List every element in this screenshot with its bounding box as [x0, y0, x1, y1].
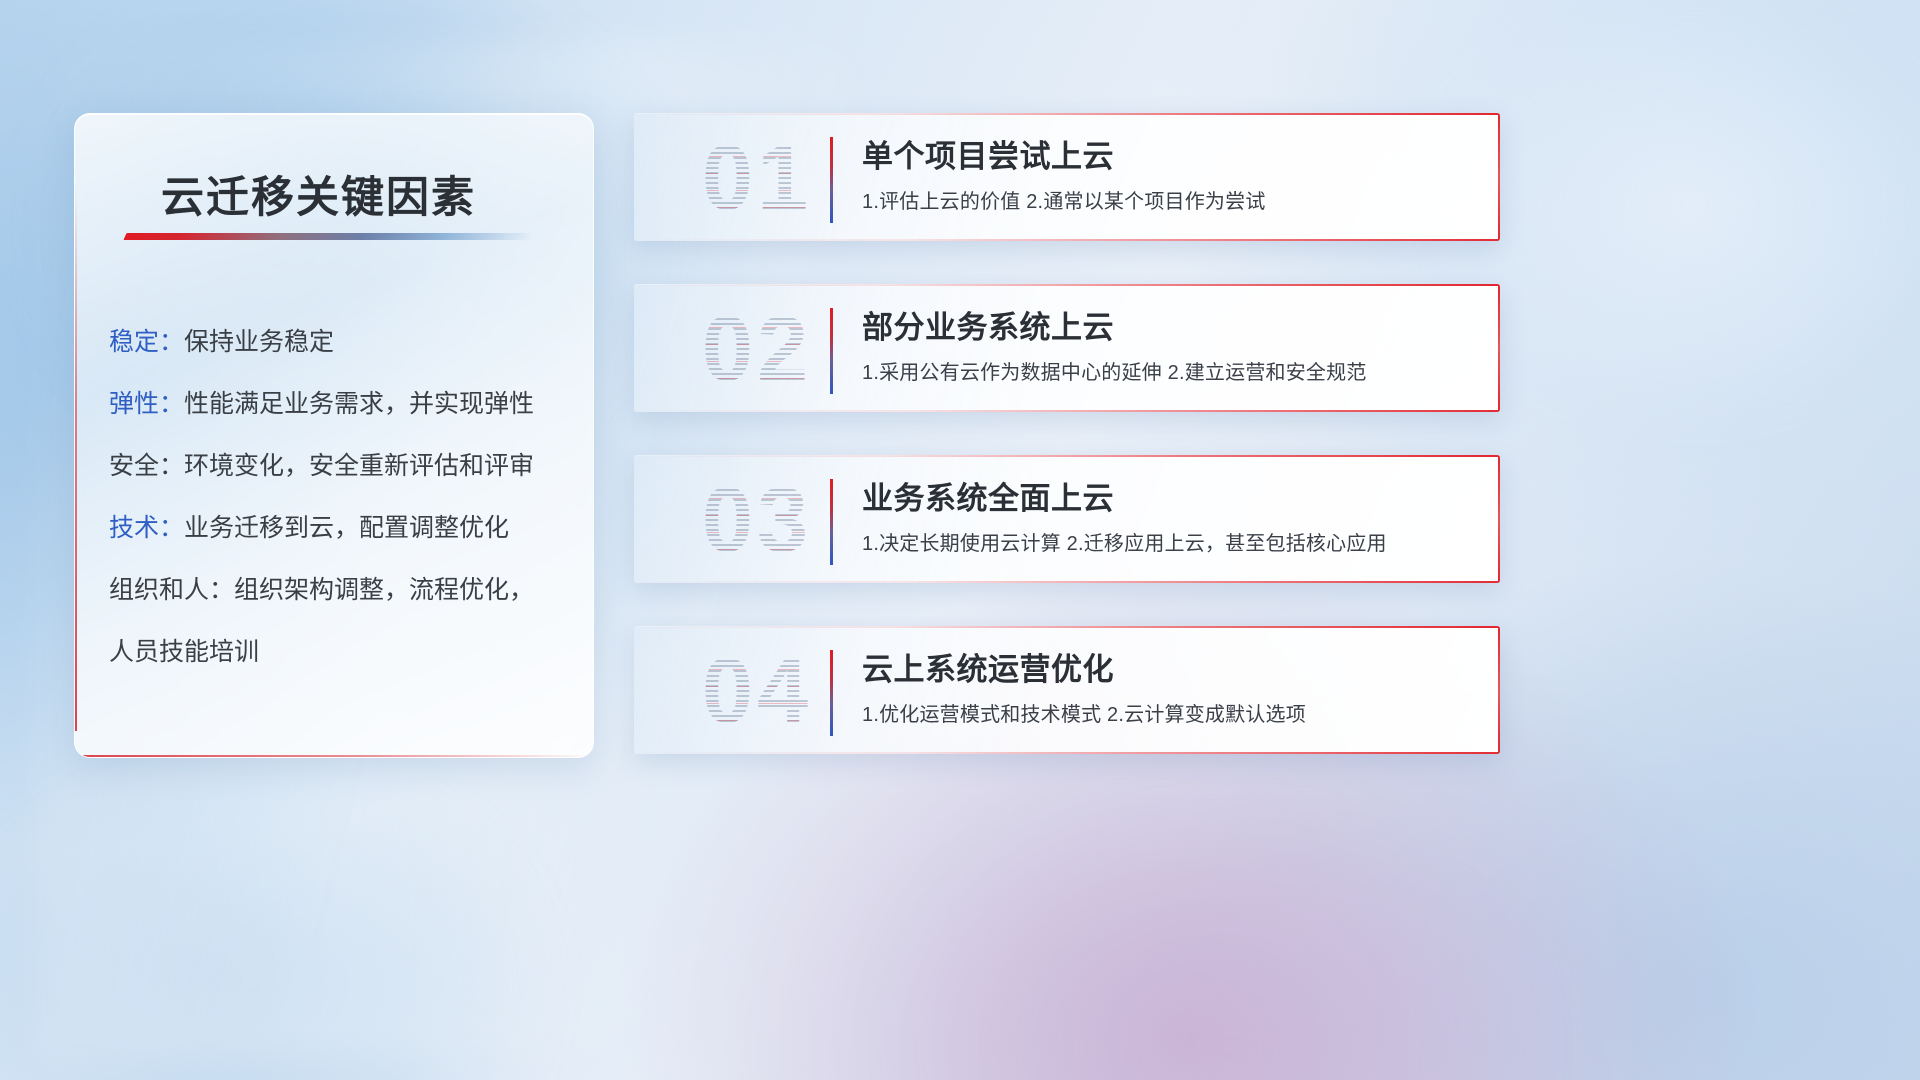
card-bottom-accent — [634, 410, 1500, 412]
card-description: 1.优化运营模式和技术模式 2.云计算变成默认选项 — [862, 698, 1306, 727]
stage-cards-list: 01 01 单个项目尝试上云 1.评估上云的价值 2.通常以某个项目作为尝试 0… — [634, 113, 1500, 797]
stage-card[interactable]: 04 04 云上系统运营优化 1.优化运营模式和技术模式 2.云计算变成默认选项 — [634, 626, 1500, 754]
factor-row: 安全： 环境变化，安全重新评估和评审 — [109, 435, 575, 497]
card-description: 1.评估上云的价值 2.通常以某个项目作为尝试 — [862, 185, 1266, 214]
factor-row: 弹性： 性能满足业务需求，并实现弹性 — [109, 373, 575, 435]
card-divider-bar — [830, 650, 833, 736]
card-top-accent — [634, 284, 1500, 286]
factor-row: 组织和人： 组织架构调整，流程优化， — [109, 559, 575, 621]
factor-text: 环境变化，安全重新评估和评审 — [184, 435, 534, 497]
card-top-accent — [634, 626, 1500, 628]
stage-number-red-overlay: 03 — [664, 464, 850, 576]
card-top-accent — [634, 113, 1500, 115]
factor-list: 稳定： 保持业务稳定 弹性： 性能满足业务需求，并实现弹性 安全： 环境变化，安… — [109, 311, 575, 683]
stage-card[interactable]: 02 02 部分业务系统上云 1.采用公有云作为数据中心的延伸 2.建立运营和安… — [634, 284, 1500, 412]
title-underline-accent — [123, 233, 534, 240]
factor-text: 人员技能培训 — [109, 621, 259, 683]
card-bottom-accent — [634, 752, 1500, 754]
factor-text: 保持业务稳定 — [184, 311, 334, 373]
card-divider-bar — [830, 137, 833, 223]
card-right-accent — [1498, 113, 1500, 241]
factor-text: 业务迁移到云，配置调整优化 — [184, 497, 509, 559]
panel-left-accent-edge — [75, 191, 77, 731]
card-title: 云上系统运营优化 — [862, 644, 1114, 689]
card-title: 部分业务系统上云 — [862, 302, 1114, 347]
card-divider-bar — [830, 308, 833, 394]
card-right-accent — [1498, 284, 1500, 412]
stage-number-red-overlay: 02 — [664, 293, 850, 405]
factor-label: 弹性： — [109, 373, 184, 435]
stage-card[interactable]: 01 01 单个项目尝试上云 1.评估上云的价值 2.通常以某个项目作为尝试 — [634, 113, 1500, 241]
card-title: 业务系统全面上云 — [862, 473, 1114, 518]
panel-bottom-accent-edge — [75, 755, 593, 757]
card-right-accent — [1498, 455, 1500, 583]
key-factors-panel: 云迁移关键因素 稳定： 保持业务稳定 弹性： 性能满足业务需求，并实现弹性 安全… — [74, 113, 594, 758]
card-right-accent — [1498, 626, 1500, 754]
card-description: 1.采用公有云作为数据中心的延伸 2.建立运营和安全规范 — [862, 356, 1367, 385]
card-top-accent — [634, 455, 1500, 457]
factor-label: 稳定： — [109, 311, 184, 373]
card-title: 单个项目尝试上云 — [862, 131, 1114, 176]
factor-label: 组织和人： — [109, 559, 234, 621]
card-description: 1.决定长期使用云计算 2.迁移应用上云，甚至包括核心应用 — [862, 527, 1387, 556]
stage-number-red-overlay: 01 — [664, 122, 850, 234]
page-title: 云迁移关键因素 — [161, 163, 476, 225]
stage-number-red-overlay: 04 — [664, 635, 850, 747]
stage-card[interactable]: 03 03 业务系统全面上云 1.决定长期使用云计算 2.迁移应用上云，甚至包括… — [634, 455, 1500, 583]
factor-row: 技术： 业务迁移到云，配置调整优化 — [109, 497, 575, 559]
factor-row: 人员技能培训 — [109, 621, 575, 683]
factor-text: 性能满足业务需求，并实现弹性 — [184, 373, 534, 435]
card-divider-bar — [830, 479, 833, 565]
card-bottom-accent — [634, 581, 1500, 583]
card-bottom-accent — [634, 239, 1500, 241]
factor-text: 组织架构调整，流程优化， — [234, 559, 534, 621]
factor-row: 稳定： 保持业务稳定 — [109, 311, 575, 373]
factor-label: 安全： — [109, 435, 184, 497]
factor-label: 技术： — [109, 497, 184, 559]
